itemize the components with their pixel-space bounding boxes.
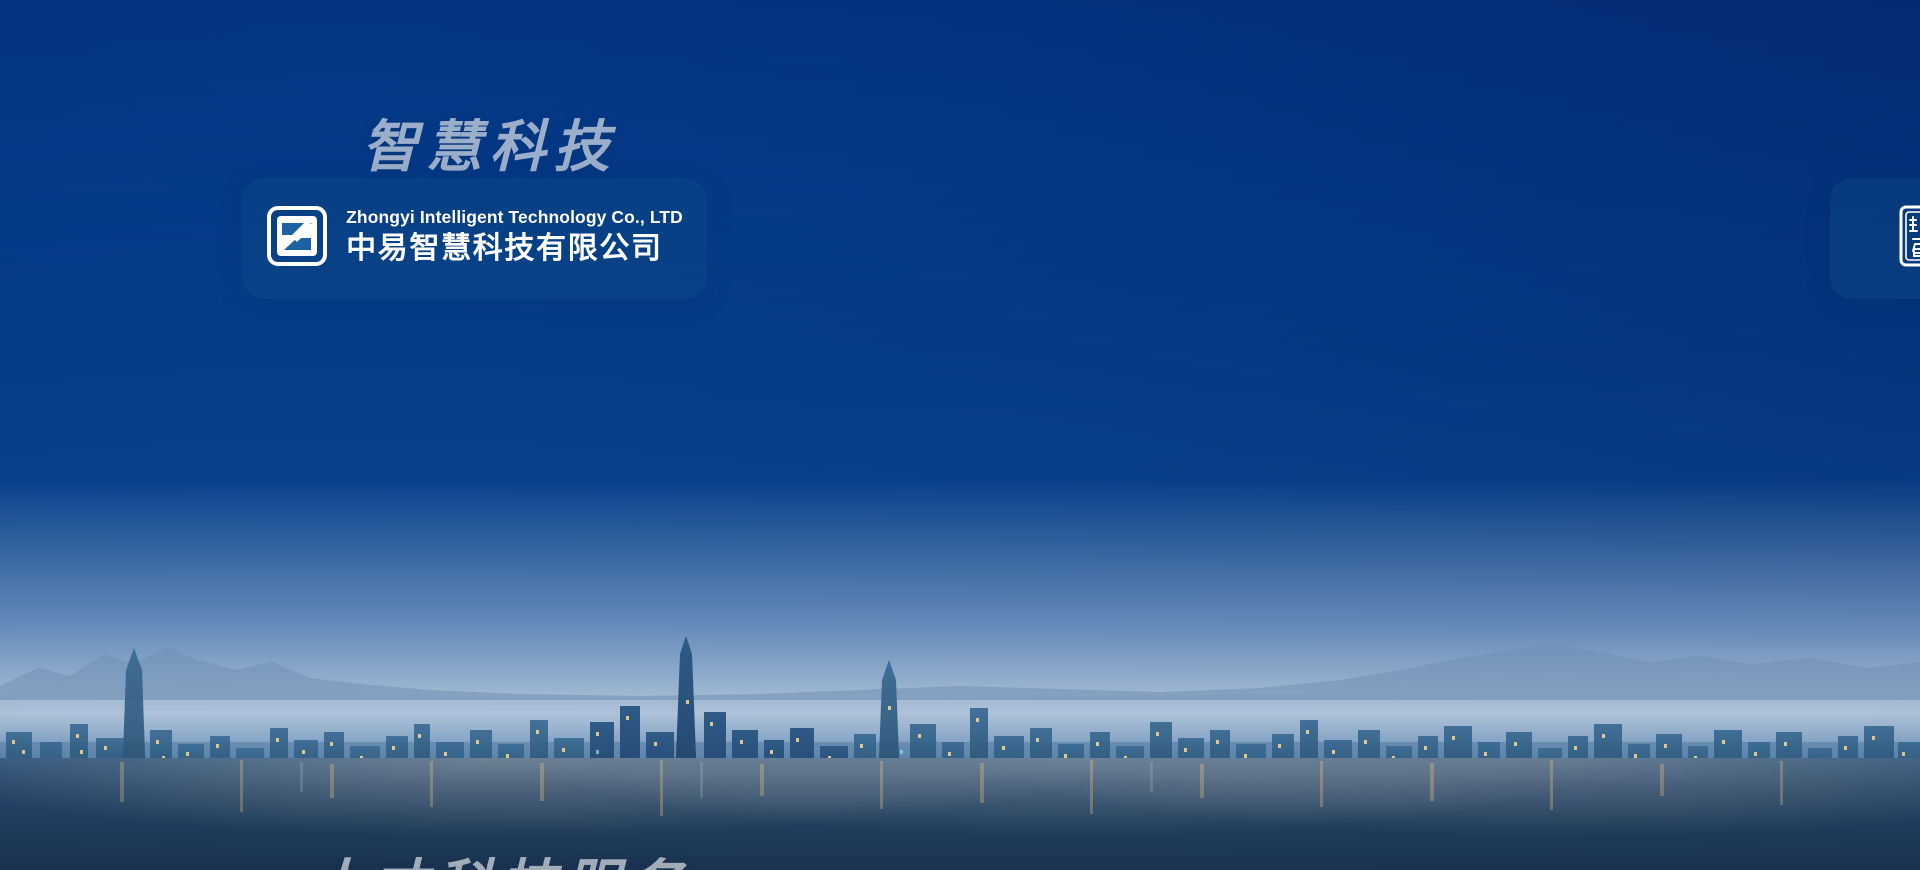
- yanxiang-seal-logo-icon: ®: [1891, 203, 1920, 274]
- segment-talent-technology-services: 人才科技服务 NY Any technolog: [0, 435, 960, 870]
- company-card-yanxiang-trading[interactable]: ® Yanxiang trading Co., LTD 砰香贸易有限公司: [1830, 178, 1920, 299]
- segment-smart-technology: 智慧科技 Zhongyi Intelligent Technology Co.,…: [0, 0, 960, 435]
- hero-stage: 智慧科技 Zhongyi Intelligent Technology Co.,…: [0, 0, 1920, 870]
- segment-real-estate-development: 房地产开发 Yanxiang real estate development C…: [960, 435, 1920, 870]
- zhongyi-z-logo-icon: [266, 205, 328, 272]
- segment-title-smart-technology: 智慧科技: [362, 102, 617, 183]
- segment-title-talent-technology-services: 人才科技服务: [308, 841, 691, 870]
- company-name-en: Zhongyi Intelligent Technology Co., LTD: [346, 207, 683, 229]
- segments-grid: 智慧科技 Zhongyi Intelligent Technology Co.,…: [0, 0, 1920, 870]
- company-name-cn: 中易智慧科技有限公司: [346, 229, 683, 269]
- segment-fast-moving-consumer-goods: 快消品: [960, 0, 1920, 435]
- company-card-zhongyi[interactable]: Zhongyi Intelligent Technology Co., LTD …: [242, 178, 707, 299]
